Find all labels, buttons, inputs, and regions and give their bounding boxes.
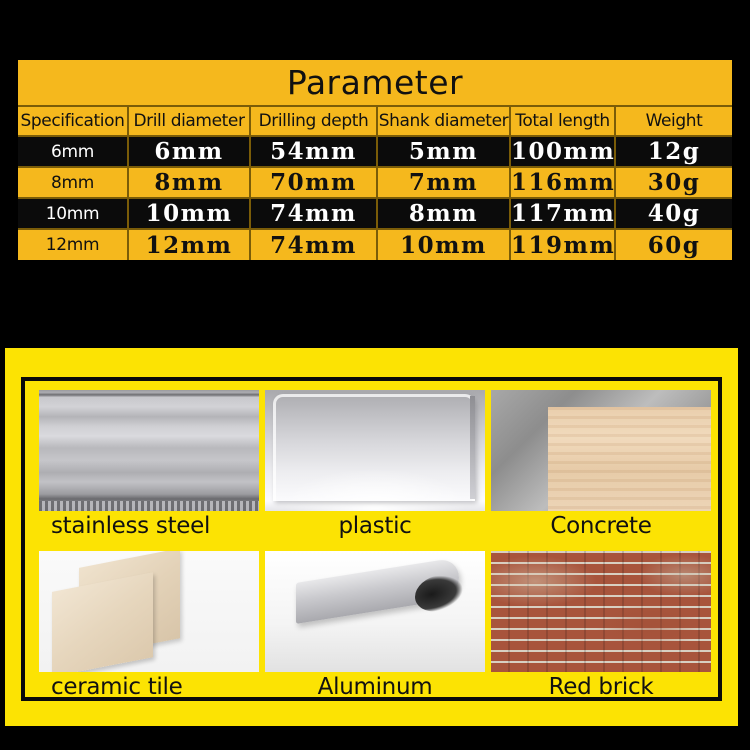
cell-drill-diameter: 10mm bbox=[128, 198, 250, 229]
material-label: ceramic tile bbox=[39, 672, 259, 702]
cell-total-length: 119mm bbox=[510, 229, 615, 260]
cell-total-length: 117mm bbox=[510, 198, 615, 229]
column-header-specification: Specification bbox=[18, 106, 128, 136]
cell-weight: 40g bbox=[615, 198, 732, 229]
cell-drilling-depth: 74mm bbox=[250, 198, 377, 229]
column-header-drill-diameter: Drill diameter bbox=[128, 106, 250, 136]
column-header-weight: Weight bbox=[615, 106, 732, 136]
cell-specification: 8mm bbox=[18, 167, 128, 198]
stainless-steel-texture bbox=[39, 390, 259, 511]
cell-total-length: 116mm bbox=[510, 167, 615, 198]
materials-inner-frame: stainless steel plastic Concrete ceramic… bbox=[21, 377, 722, 701]
material-item-stainless-steel: stainless steel bbox=[39, 390, 259, 541]
cell-weight: 30g bbox=[615, 167, 732, 198]
table-title: Parameter bbox=[18, 60, 732, 105]
cell-drilling-depth: 70mm bbox=[250, 167, 377, 198]
material-photo-plastic bbox=[265, 390, 485, 511]
material-item-aluminum: Aluminum bbox=[265, 551, 485, 702]
cell-drilling-depth: 54mm bbox=[250, 136, 377, 167]
material-item-plastic: plastic bbox=[265, 390, 485, 541]
material-photo-stainless-steel bbox=[39, 390, 259, 511]
material-item-ceramic-tile: ceramic tile bbox=[39, 551, 259, 702]
cell-specification: 10mm bbox=[18, 198, 128, 229]
cell-specification: 6mm bbox=[18, 136, 128, 167]
material-photo-aluminum bbox=[265, 551, 485, 672]
cell-shank-diameter: 7mm bbox=[377, 167, 510, 198]
table-row: 10mm 10mm 74mm 8mm 117mm 40g bbox=[18, 198, 732, 229]
material-photo-concrete bbox=[491, 390, 711, 511]
cell-drill-diameter: 12mm bbox=[128, 229, 250, 260]
cell-shank-diameter: 10mm bbox=[377, 229, 510, 260]
cell-total-length: 100mm bbox=[510, 136, 615, 167]
cell-weight: 12g bbox=[615, 136, 732, 167]
plastic-texture bbox=[265, 390, 485, 511]
table-grid: Specification Drill diameter Drilling de… bbox=[18, 105, 732, 260]
aluminum-texture bbox=[265, 551, 485, 672]
material-item-red-brick: Red brick bbox=[491, 551, 711, 702]
cell-shank-diameter: 5mm bbox=[377, 136, 510, 167]
cell-drill-diameter: 6mm bbox=[128, 136, 250, 167]
concrete-texture bbox=[491, 390, 711, 511]
red-brick-texture bbox=[491, 551, 711, 672]
column-header-shank-diameter: Shank diameter bbox=[377, 106, 510, 136]
material-photo-red-brick bbox=[491, 551, 711, 672]
material-label: stainless steel bbox=[39, 511, 259, 541]
material-label: Aluminum bbox=[265, 672, 485, 702]
material-photo-ceramic-tile bbox=[39, 551, 259, 672]
cell-drilling-depth: 74mm bbox=[250, 229, 377, 260]
column-header-total-length: Total length bbox=[510, 106, 615, 136]
cell-drill-diameter: 8mm bbox=[128, 167, 250, 198]
table-header-row: Specification Drill diameter Drilling de… bbox=[18, 106, 732, 136]
ceramic-tile-texture bbox=[39, 551, 259, 672]
table-row: 12mm 12mm 74mm 10mm 119mm 60g bbox=[18, 229, 732, 260]
cell-weight: 60g bbox=[615, 229, 732, 260]
materials-panel: stainless steel plastic Concrete ceramic… bbox=[5, 348, 738, 726]
material-label: Red brick bbox=[491, 672, 711, 702]
table-row: 6mm 6mm 54mm 5mm 100mm 12g bbox=[18, 136, 732, 167]
parameter-table: Parameter Specification Drill diameter D… bbox=[18, 60, 732, 253]
cell-shank-diameter: 8mm bbox=[377, 198, 510, 229]
table-row: 8mm 8mm 70mm 7mm 116mm 30g bbox=[18, 167, 732, 198]
column-header-drilling-depth: Drilling depth bbox=[250, 106, 377, 136]
materials-grid: stainless steel plastic Concrete ceramic… bbox=[39, 390, 711, 696]
material-label: Concrete bbox=[491, 511, 711, 541]
material-label: plastic bbox=[265, 511, 485, 541]
material-item-concrete: Concrete bbox=[491, 390, 711, 541]
cell-specification: 12mm bbox=[18, 229, 128, 260]
